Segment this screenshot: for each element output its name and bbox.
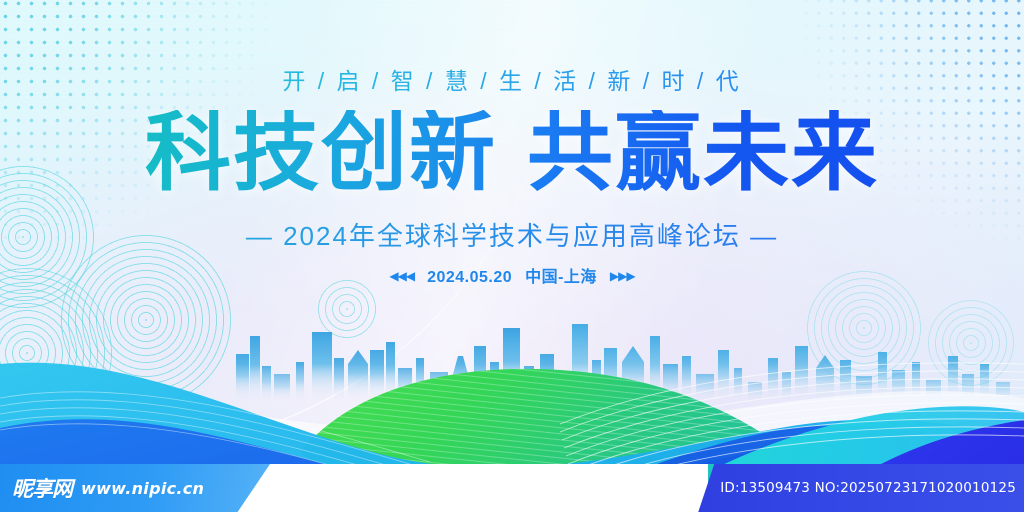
subtitle: — 2024年全球科学技术与应用高峰论坛 —	[0, 216, 1024, 253]
arrows-left-icon: ◀◀◀	[389, 269, 414, 283]
image-id-label: ID:13509473 NO:20250723171020010125	[698, 464, 1024, 512]
title-left: 科技创新	[145, 103, 497, 203]
title-right: 共赢未来	[527, 103, 879, 203]
footer-bar: 昵享网 www.nipic.cn ID:13509473 NO:20250723…	[0, 464, 1024, 512]
banner-canvas: 开 / 启 / 智 / 慧 / 生 / 活 / 新 / 时 / 代 科技创新共赢…	[0, 0, 1024, 512]
event-place: 中国-上海	[525, 269, 597, 286]
page-title: 科技创新共赢未来	[0, 110, 1024, 196]
watermark-url[interactable]: www.nipic.cn	[81, 479, 204, 498]
dateline: ◀◀◀ 2024.05.20 中国-上海 ▶▶▶	[0, 263, 1024, 287]
watermark-badge[interactable]: 昵享网 www.nipic.cn	[0, 464, 270, 512]
banner-content: 开 / 启 / 智 / 慧 / 生 / 活 / 新 / 时 / 代 科技创新共赢…	[0, 0, 1024, 287]
tagline: 开 / 启 / 智 / 慧 / 生 / 活 / 新 / 时 / 代	[0, 62, 1024, 96]
event-date: 2024.05.20	[427, 269, 512, 286]
arrows-right-icon: ▶▶▶	[610, 269, 635, 283]
watermark-logo: 昵享网	[12, 473, 72, 503]
